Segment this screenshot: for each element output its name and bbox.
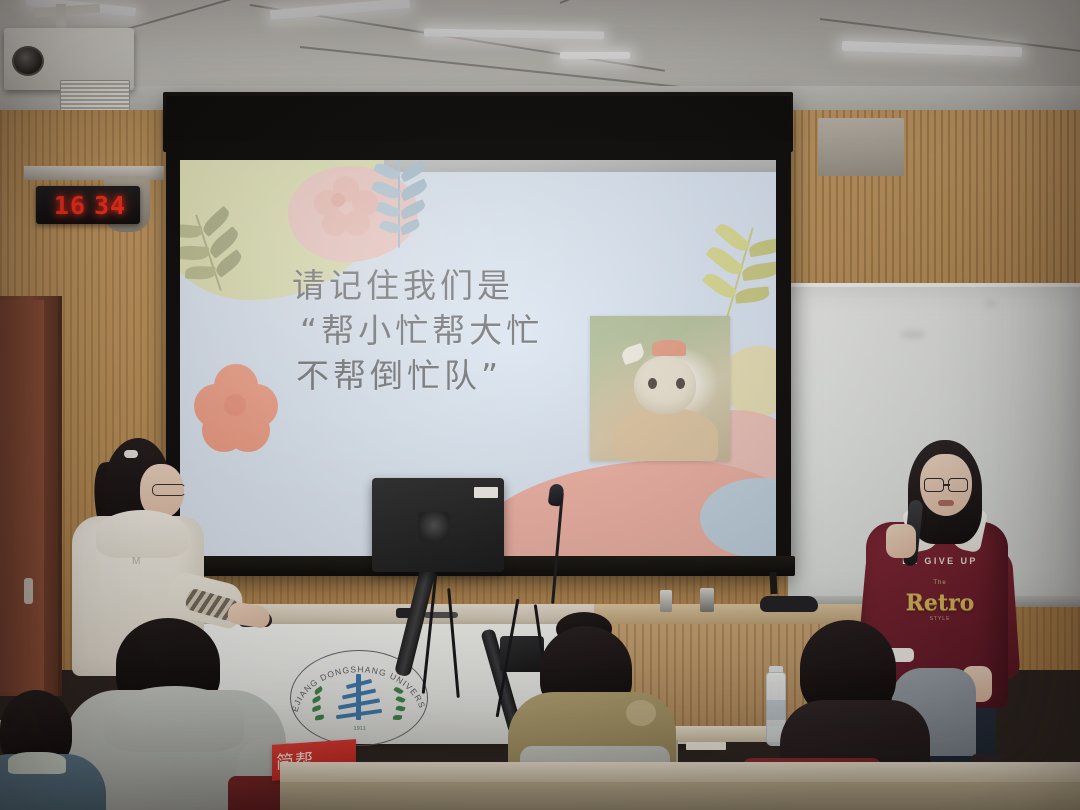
student-hood bbox=[104, 686, 244, 752]
classroom-scene: 16 34 bbox=[0, 0, 1080, 810]
student-desk-front bbox=[280, 762, 1080, 784]
photo-character-bow bbox=[620, 343, 646, 365]
ceiling-projector bbox=[4, 28, 134, 90]
sweatshirt-brand-text: Retro bbox=[888, 590, 992, 616]
presenter-glasses-bridge bbox=[943, 484, 950, 486]
presenter-mouth bbox=[938, 500, 954, 506]
ceiling-light bbox=[560, 52, 630, 59]
door-handle[interactable] bbox=[24, 578, 33, 604]
monitor-vesa-mount bbox=[418, 512, 450, 542]
folded-cloth bbox=[760, 596, 818, 612]
presenter-glasses-icon bbox=[948, 478, 968, 492]
slide-line-2: “帮小忙帮大忙 bbox=[292, 309, 632, 354]
slide-embedded-photo bbox=[590, 316, 730, 461]
slide-text-block: 请记住我们是 “帮小忙帮大忙 不帮倒忙队” bbox=[292, 264, 632, 399]
whiteboard-smudge bbox=[900, 330, 926, 339]
laurel-right-icon bbox=[382, 686, 408, 726]
flower-icon-small bbox=[314, 176, 398, 260]
flower-icon-large bbox=[194, 364, 278, 448]
led-clock-display: 16 34 bbox=[44, 190, 136, 220]
projector-lens-icon bbox=[12, 46, 44, 76]
door-panel[interactable] bbox=[0, 300, 44, 692]
student-collar bbox=[8, 752, 66, 774]
presenter-glasses-icon bbox=[924, 478, 944, 492]
photo-character-head bbox=[634, 356, 696, 414]
logo-founding-year: 1911 bbox=[340, 726, 380, 732]
laurel-left-icon bbox=[310, 686, 336, 726]
slide-line-3: 不帮倒忙队” bbox=[292, 354, 632, 399]
clock-hours: 16 bbox=[54, 191, 86, 220]
photo-character-crown bbox=[652, 340, 686, 356]
photo-character-body bbox=[614, 408, 718, 461]
photo-character-eye bbox=[676, 378, 685, 389]
student-desk-front-edge bbox=[280, 782, 1080, 810]
operator-hood bbox=[96, 510, 188, 558]
clock-minutes: 34 bbox=[94, 191, 126, 220]
sweatshirt-sub-text: The bbox=[888, 580, 992, 586]
operator-glasses-icon bbox=[152, 484, 186, 496]
desk-cup bbox=[660, 590, 672, 612]
desk-cup bbox=[700, 588, 714, 612]
presenter-hand-holding-mic bbox=[886, 524, 916, 558]
paper-note bbox=[686, 742, 726, 750]
slide-line-1: 请记住我们是 bbox=[292, 264, 632, 309]
wall-speaker bbox=[818, 118, 904, 176]
pine-tree-emblem-icon bbox=[336, 674, 382, 722]
student-shoulder bbox=[626, 700, 656, 726]
sweatshirt-small-text: STYLE bbox=[888, 616, 992, 622]
screen-leg bbox=[769, 572, 777, 594]
operator-hair-tie bbox=[124, 450, 138, 458]
whiteboard-smudge bbox=[986, 300, 996, 307]
water-bottle-label bbox=[766, 700, 786, 720]
monitor-asset-label bbox=[474, 487, 498, 498]
photo-character-eye bbox=[648, 378, 657, 389]
